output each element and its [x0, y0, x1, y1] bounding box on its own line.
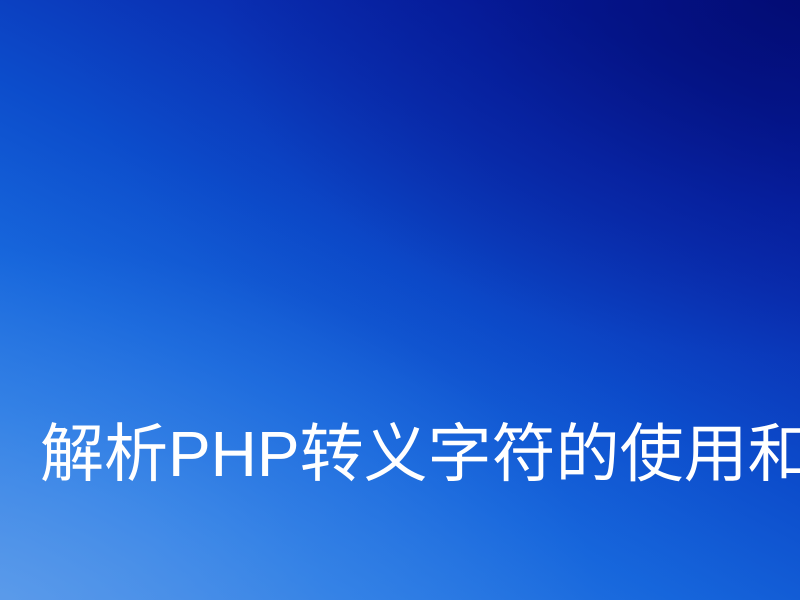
headline-line-1: 解析PHP转义字符的使用和 — [40, 413, 764, 495]
headline-title: 解析PHP转义字符的使用和 重要性 — [40, 249, 764, 600]
title-card: 解析PHP转义字符的使用和 重要性 — [0, 0, 800, 600]
